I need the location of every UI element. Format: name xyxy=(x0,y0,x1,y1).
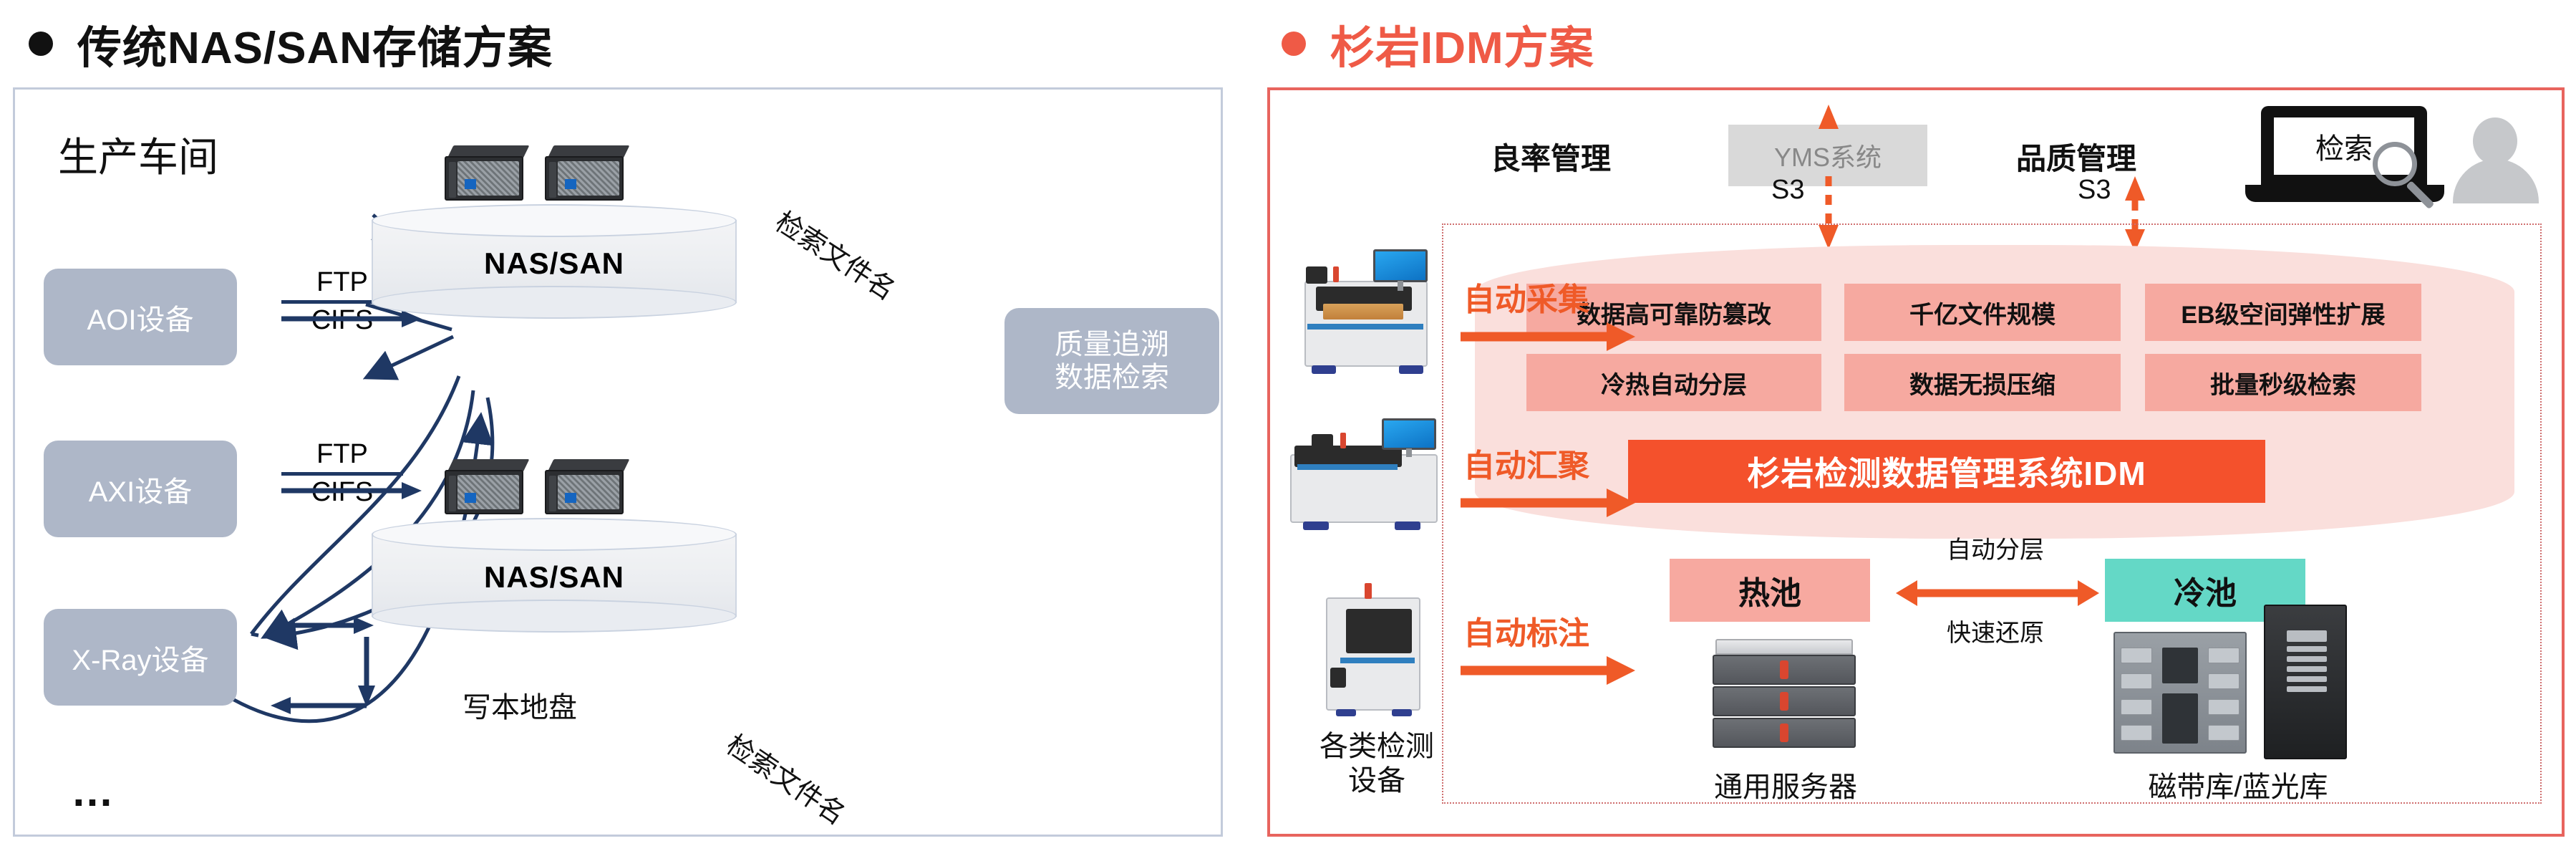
feature-label-5: 批量秒级检索 xyxy=(2210,365,2356,400)
storage-cylinder-2: NAS/SAN xyxy=(372,518,737,633)
yms-system-label: YMS系统 xyxy=(1774,137,1882,174)
more-devices-ellipsis: … xyxy=(71,766,121,816)
left-heading-bullet-icon xyxy=(29,32,53,56)
shanyan-idm-panel: 良率管理 YMS系统 品质管理 S3 S3 检索 xyxy=(1267,87,2565,837)
bluray-library-icon xyxy=(2264,605,2347,759)
equipment-caption: 各类检测 设备 xyxy=(1280,729,1473,798)
laptop-icon: 检索 xyxy=(2245,106,2460,213)
workshop-title: 生产车间 xyxy=(58,125,218,183)
rack-server-icon-2a xyxy=(445,459,529,516)
storage-label-1: NAS/SAN xyxy=(372,246,737,281)
feature-label-4: 数据无损压缩 xyxy=(1909,365,2056,400)
device-label-aoi: AOI设备 xyxy=(87,297,194,338)
slide-canvas: 传统NAS/SAN存储方案 杉岩IDM方案 生产车间 xyxy=(0,0,2576,851)
fast-restore-label: 快速还原 xyxy=(1892,613,2099,648)
flow-label-aggregate: 自动汇聚 xyxy=(1463,440,1589,486)
inspection-machine-icon-2 xyxy=(1287,414,1445,536)
quality-trace-line1: 质量追溯 xyxy=(1055,328,1169,361)
protocol-axi: FTP CIFS xyxy=(281,441,403,507)
right-heading-bullet-icon xyxy=(1282,32,1306,56)
tape-bluray-caption: 磁带库/蓝光库 xyxy=(2102,764,2374,805)
feature-label-1: 千亿文件规模 xyxy=(1909,295,2056,330)
feature-box-1[interactable]: 千亿文件规模 xyxy=(1844,284,2121,341)
hot-pool-label: 热池 xyxy=(1738,567,1801,613)
person-avatar-head xyxy=(2473,117,2517,165)
general-server-icon xyxy=(1713,639,1856,746)
idm-banner[interactable]: 杉岩检测数据管理系统IDM xyxy=(1628,440,2265,503)
feature-label-0: 数据高可靠防篡改 xyxy=(1577,295,1771,330)
laptop-screen-text: 检索 xyxy=(2315,125,2373,167)
device-box-aoi[interactable]: AOI设备 xyxy=(44,269,237,365)
inspection-machine-icon-1 xyxy=(1299,246,1435,375)
equipment-caption-line1: 各类检测 xyxy=(1280,729,1473,764)
protocol-axi-bottom: CIFS xyxy=(281,479,403,507)
left-heading: 传统NAS/SAN存储方案 xyxy=(29,11,553,76)
device-label-xray: X-Ray设备 xyxy=(72,637,208,678)
yms-system-box[interactable]: YMS系统 xyxy=(1728,125,1927,186)
device-box-xray[interactable]: X-Ray设备 xyxy=(44,609,237,706)
right-heading: 杉岩IDM方案 xyxy=(1282,11,1594,76)
rack-server-icon-1b xyxy=(545,145,629,203)
magnifier-icon xyxy=(2373,142,2417,186)
feature-box-3[interactable]: 冷热自动分层 xyxy=(1526,354,1821,411)
yield-management-label: 良率管理 xyxy=(1491,135,1611,178)
inspection-machine-icon-3 xyxy=(1320,582,1428,718)
s3-label-right: S3 xyxy=(2078,175,2111,206)
person-avatar-body xyxy=(2453,159,2539,203)
tape-library-icon xyxy=(2113,632,2247,754)
general-server-caption: 通用服务器 xyxy=(1671,764,1900,805)
rack-server-icon-1a xyxy=(445,145,529,203)
feature-label-3: 冷热自动分层 xyxy=(1601,365,1747,400)
right-heading-text: 杉岩IDM方案 xyxy=(1330,11,1594,76)
quality-trace-line2: 数据检索 xyxy=(1055,361,1169,394)
rack-server-icon-2b xyxy=(545,459,629,516)
equipment-caption-line2: 设备 xyxy=(1280,764,1473,798)
flow-label-collect: 自动采集 xyxy=(1463,274,1589,319)
left-heading-text: 传统NAS/SAN存储方案 xyxy=(77,11,553,76)
quality-management-label: 品质管理 xyxy=(2016,135,2136,178)
device-box-axi[interactable]: AXI设备 xyxy=(44,441,237,537)
storage-label-2: NAS/SAN xyxy=(372,560,737,595)
feature-box-4[interactable]: 数据无损压缩 xyxy=(1844,354,2121,411)
auto-tiering-label: 自动分层 xyxy=(1892,530,2099,565)
storage-cylinder-1: NAS/SAN xyxy=(372,204,737,319)
feature-box-5[interactable]: 批量秒级检索 xyxy=(2145,354,2421,411)
s3-label-left: S3 xyxy=(1771,175,1804,206)
retrieval-filename-label-2: 检索文件名 xyxy=(720,723,855,832)
local-disk-label: 写本地盘 xyxy=(463,684,577,726)
cold-pool-label: 冷池 xyxy=(2174,567,2237,613)
idm-banner-label: 杉岩检测数据管理系统IDM xyxy=(1747,448,2146,495)
hot-pool-box[interactable]: 热池 xyxy=(1670,559,1870,622)
feature-label-2: EB级空间弹性扩展 xyxy=(2181,295,2385,330)
protocol-axi-top: FTP xyxy=(281,441,403,469)
device-label-axi: AXI设备 xyxy=(89,468,192,510)
quality-trace-box[interactable]: 质量追溯 数据检索 xyxy=(1004,308,1219,414)
flow-label-annotate: 自动标注 xyxy=(1463,607,1589,653)
feature-box-2[interactable]: EB级空间弹性扩展 xyxy=(2145,284,2421,341)
retrieval-filename-label-1: 检索文件名 xyxy=(769,200,904,307)
traditional-nas-san-panel: 生产车间 AOI设备 AXI设备 xyxy=(13,87,1223,837)
